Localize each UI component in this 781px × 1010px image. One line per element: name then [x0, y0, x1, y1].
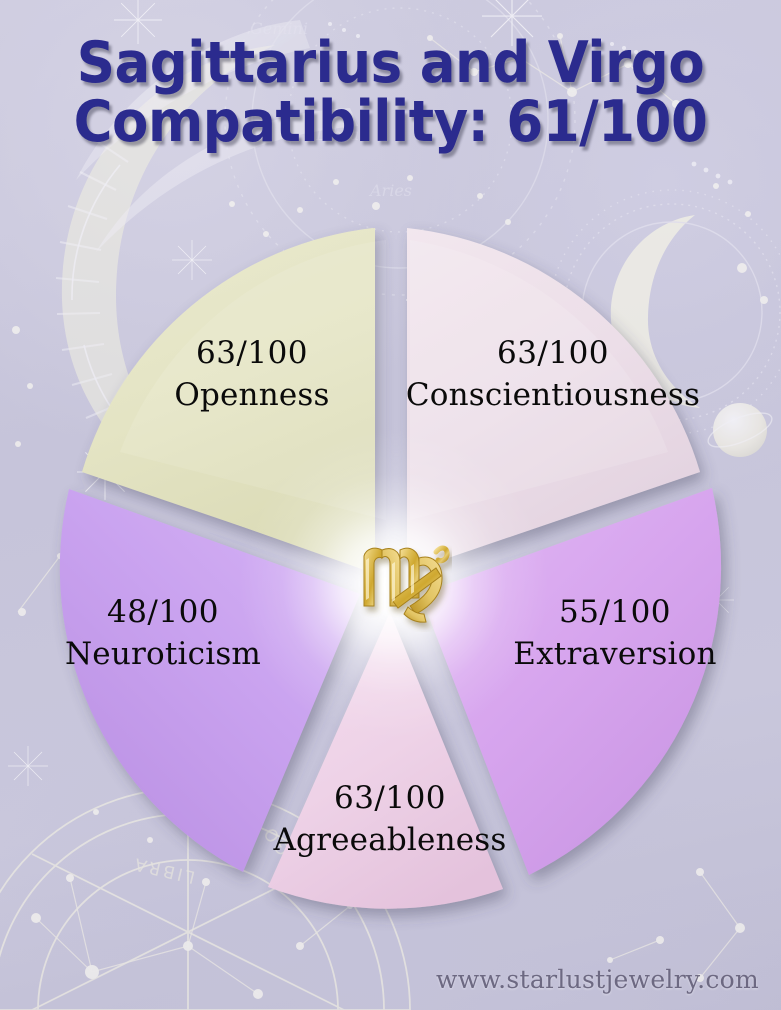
infographic-canvas: LIBRA VIRGO Gemini Aries Libra Sagittari… [0, 0, 781, 1010]
title-line-2: Compatibility: 61/100 [27, 93, 753, 152]
title-line-1: Sagittarius and Virgo [27, 34, 753, 93]
site-watermark: www.starlustjewelry.com [436, 965, 759, 994]
virgo-zodiac-icon [352, 528, 452, 632]
page-title: Sagittarius and Virgo Compatibility: 61/… [0, 34, 781, 151]
